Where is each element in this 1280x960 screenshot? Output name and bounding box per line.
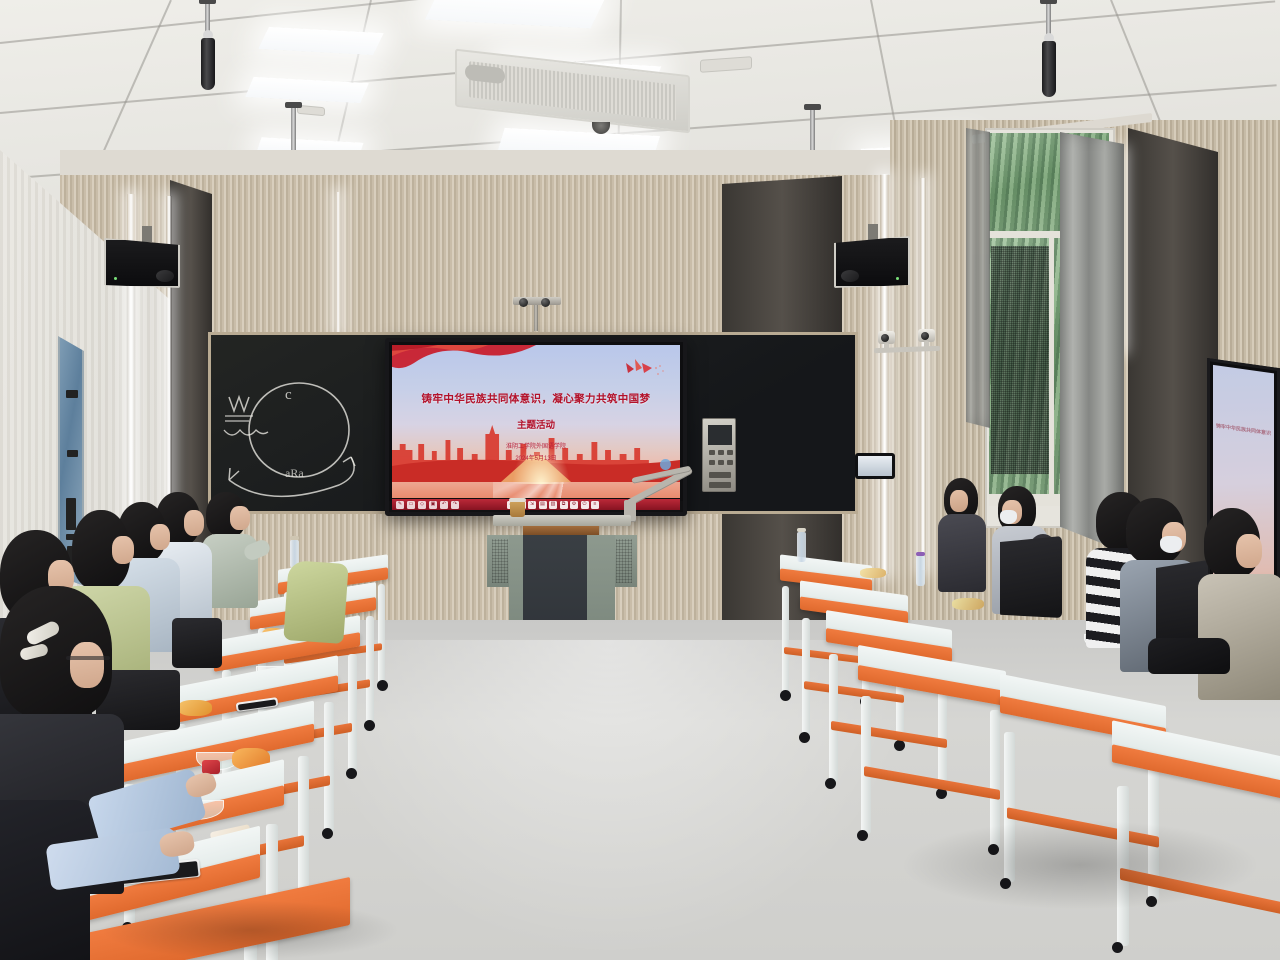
fruit-tray <box>952 598 984 610</box>
svg-text:aRa: aRa <box>285 466 304 480</box>
bottle-cap <box>797 528 806 532</box>
face-mask <box>1160 536 1182 553</box>
water-bottle <box>797 532 806 562</box>
select-icon[interactable]: ▣ <box>429 501 437 509</box>
redo-icon[interactable]: ↷ <box>451 501 459 509</box>
fruit-tray <box>860 568 886 578</box>
gallery-icon[interactable]: ▥ <box>549 501 557 509</box>
pen-icon[interactable]: ✎ <box>396 501 404 509</box>
task-chair <box>172 618 222 668</box>
doves-graphic <box>622 355 666 381</box>
fruit-snack <box>178 700 212 716</box>
av-control-panel[interactable] <box>702 418 736 492</box>
red-flag-graphic <box>392 345 538 383</box>
task-chair <box>1000 536 1062 618</box>
whiteboard-icon[interactable]: ▤ <box>539 501 547 509</box>
window-curtain[interactable] <box>1060 132 1124 552</box>
front-camera-icon <box>541 298 550 307</box>
display-toolbar-left[interactable]: ✎ ▭ ◇ ▣ ↶ ↷ <box>396 499 459 510</box>
slide-date: 2024年5月13日 <box>392 453 680 462</box>
window-curtain[interactable] <box>966 128 990 428</box>
camera-stem <box>534 305 538 331</box>
slide-subtitle: 主题活动 <box>392 417 680 431</box>
podium-wood-trim <box>523 525 599 535</box>
room-control-tablet[interactable] <box>855 453 895 479</box>
svg-text:c: c <box>285 387 292 403</box>
jacket-on-chair <box>283 560 348 644</box>
front-camera-icon <box>519 298 528 307</box>
menu-icon[interactable]: ≡ <box>591 501 599 509</box>
bottle-cap <box>290 536 299 540</box>
slide-help-badge[interactable] <box>660 459 671 470</box>
presentation-slide: 铸牢中华民族共同体意识，凝心聚力共筑中国梦 主题活动 淮阴工学院外国语学院 20… <box>392 345 680 498</box>
slide-organization: 淮阴工学院外国语学院 <box>392 443 680 452</box>
led-light-strip <box>920 178 926 570</box>
screenshot-icon[interactable]: ⧉ <box>560 501 568 509</box>
eraser-icon[interactable]: ▭ <box>407 501 415 509</box>
water-bottle-purple-cap <box>916 556 925 586</box>
power-icon[interactable]: ⏻ <box>581 501 589 509</box>
slide-title: 铸牢中华民族共同体意识，凝心聚力共筑中国梦 <box>392 391 680 406</box>
eyeglasses <box>66 656 110 660</box>
floor-shadow <box>100 900 400 960</box>
paper-cup-lid <box>509 498 526 502</box>
interactive-led-display[interactable]: 铸牢中华民族共同体意识，凝心聚力共筑中国梦 主题活动 淮阴工学院外国语学院 20… <box>385 338 687 516</box>
face-mask <box>1000 510 1017 524</box>
settings-icon[interactable]: ⚙ <box>570 501 578 509</box>
led-light-strip <box>880 174 889 574</box>
handbag <box>1148 638 1230 674</box>
led-light-strip <box>336 192 340 332</box>
shape-icon[interactable]: ◇ <box>418 501 426 509</box>
bottle-cap <box>916 552 925 556</box>
paper-cup <box>510 501 525 517</box>
undo-icon[interactable]: ↶ <box>440 501 448 509</box>
classroom-scene: c aRa <box>0 0 1280 960</box>
insect-screen <box>991 246 1049 474</box>
share-icon[interactable]: ⇲ <box>528 501 536 509</box>
floor-shadow <box>900 820 1260 910</box>
